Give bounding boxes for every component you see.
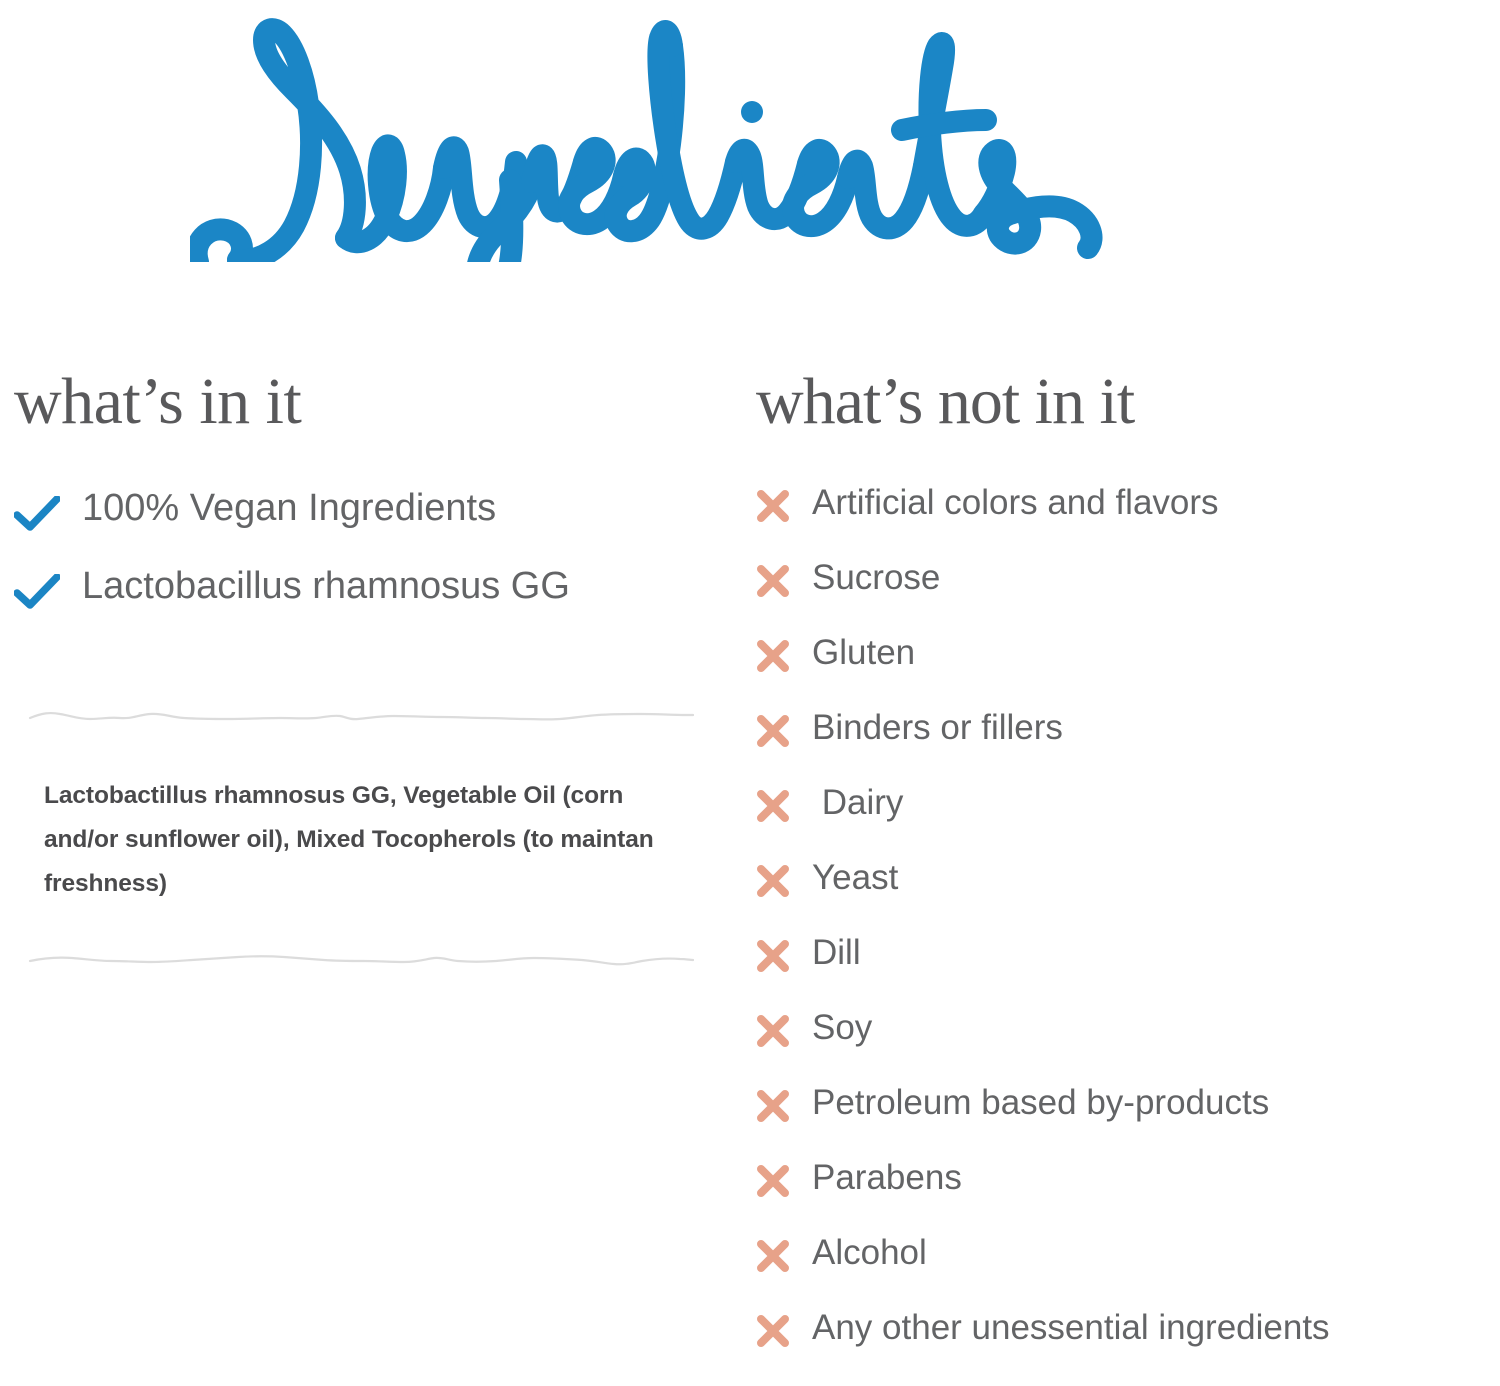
list-item-label: Parabens <box>812 1157 962 1199</box>
page-header: Ingredients <box>0 0 1500 300</box>
check-icon <box>14 574 60 614</box>
list-item: Sucrose <box>756 557 1500 632</box>
cross-icon <box>756 489 790 527</box>
list-item: Lactobacillus rhamnosus GG <box>14 564 714 642</box>
list-item: Artificial colors and flavors <box>756 482 1500 557</box>
cross-icon <box>756 564 790 602</box>
ingredient-statement-panel: Lactobactillus rhamnosus GG, Vegetable O… <box>28 707 694 968</box>
list-item-label: Petroleum based by-products <box>812 1082 1269 1124</box>
list-item-label: 100% Vegan Ingredients <box>82 486 496 530</box>
list-item-label: Yeast <box>812 857 898 899</box>
list-item-label: Gluten <box>812 632 915 674</box>
cross-icon <box>756 864 790 902</box>
whats-in-it-column: what’s in it 100% Vegan Ingredients Lact… <box>14 366 714 642</box>
cross-icon <box>756 1314 790 1352</box>
list-item: Dairy <box>756 782 1500 857</box>
list-item: Gluten <box>756 632 1500 707</box>
list-item-label: Dairy <box>812 782 903 824</box>
cross-icon <box>756 714 790 752</box>
list-item: Dill <box>756 932 1500 1007</box>
list-item: Petroleum based by-products <box>756 1082 1500 1157</box>
included-ingredients-list: 100% Vegan Ingredients Lactobacillus rha… <box>14 486 714 642</box>
cross-icon <box>756 1164 790 1202</box>
cross-icon <box>756 939 790 977</box>
cross-icon <box>756 1089 790 1127</box>
list-item: Yeast <box>756 857 1500 932</box>
list-item-label: Sucrose <box>812 557 940 599</box>
list-item: Soy <box>756 1007 1500 1082</box>
excluded-ingredients-list: Artificial colors and flavors Sucrose Gl… <box>756 482 1500 1382</box>
wavy-divider-top <box>28 707 694 725</box>
cross-icon <box>756 1014 790 1052</box>
list-item: Alcohol <box>756 1232 1500 1307</box>
list-item-label: Binders or fillers <box>812 707 1063 749</box>
cross-icon <box>756 789 790 827</box>
ingredients-script-logo <box>190 12 1200 262</box>
list-item-label: Dill <box>812 932 861 974</box>
list-item: Any other unessential ingredients <box>756 1307 1500 1382</box>
list-item-label: Alcohol <box>812 1232 927 1274</box>
list-item: Binders or fillers <box>756 707 1500 782</box>
check-icon <box>14 496 60 536</box>
whats-not-in-it-heading: what’s not in it <box>756 366 1500 438</box>
whats-in-it-heading: what’s in it <box>14 366 714 438</box>
list-item: Parabens <box>756 1157 1500 1232</box>
list-item: 100% Vegan Ingredients <box>14 486 714 564</box>
whats-not-in-it-column: what’s not in it Artificial colors and f… <box>756 366 1500 1382</box>
ingredient-statement-text: Lactobactillus rhamnosus GG, Vegetable O… <box>44 774 684 906</box>
list-item-label: Any other unessential ingredients <box>812 1307 1330 1349</box>
cross-icon <box>756 639 790 677</box>
cross-icon <box>756 1239 790 1277</box>
list-item-label: Artificial colors and flavors <box>812 482 1219 524</box>
list-item-label: Lactobacillus rhamnosus GG <box>82 564 570 608</box>
list-item-label: Soy <box>812 1007 872 1049</box>
wavy-divider-bottom <box>28 950 694 968</box>
